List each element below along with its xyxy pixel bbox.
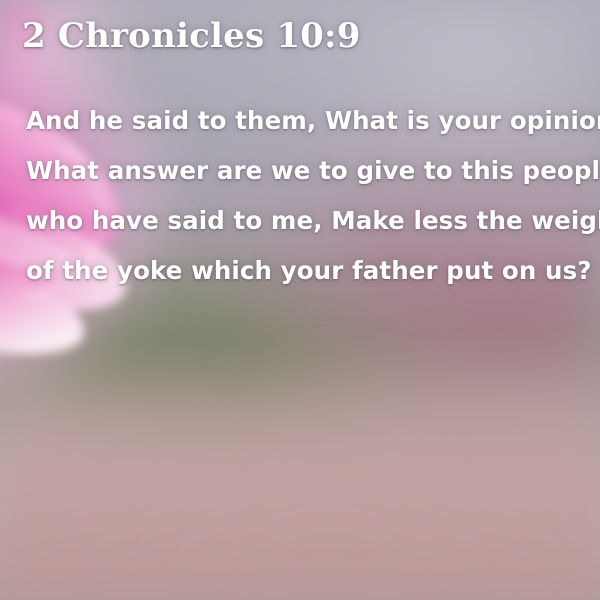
verse-line: who have said to me, Make less the weigh…	[26, 196, 574, 246]
verse-reference: 2 Chronicles 10:9	[22, 16, 361, 56]
verse-line: And he said to them, What is your opinio…	[26, 96, 574, 146]
verse-body: And he said to them, What is your opinio…	[0, 96, 600, 296]
verse-text-block: 2 Chronicles 10:9 And he said to them, W…	[0, 0, 600, 600]
verse-image-canvas: 2 Chronicles 10:9 And he said to them, W…	[0, 0, 600, 600]
verse-line: What answer are we to give to this peopl…	[26, 146, 574, 196]
verse-line: of the yoke which your father put on us?	[26, 246, 574, 296]
